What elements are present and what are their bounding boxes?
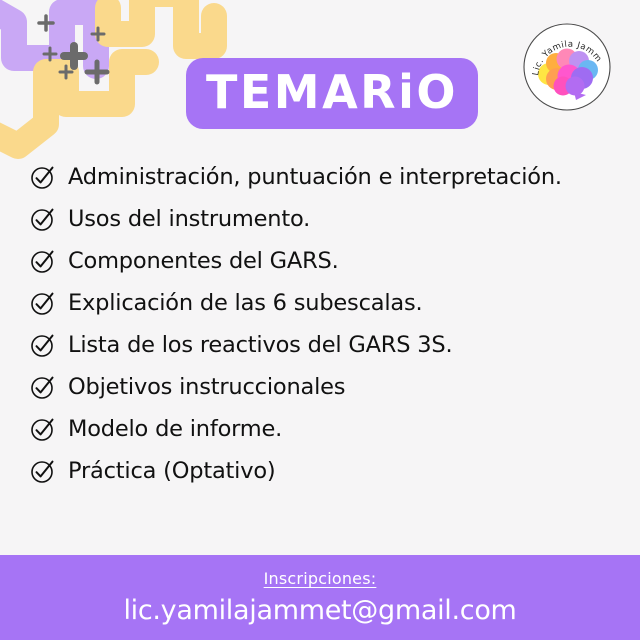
check-circle-icon (30, 458, 56, 484)
footer-email-address[interactable]: lic.yamilajammet@gmail.com (123, 595, 516, 626)
list-item-label: Modelo de informe. (68, 416, 282, 442)
list-item-label: Administración, puntuación e interpretac… (68, 164, 562, 190)
list-item: Práctica (Optativo) (30, 450, 614, 492)
page-title: TEMARiO (206, 69, 458, 118)
list-item-label: Práctica (Optativo) (68, 458, 275, 484)
brand-logo-badge: Lic. Yamila Jammet (516, 16, 618, 118)
check-circle-icon (30, 416, 56, 442)
list-item-label: Usos del instrumento. (68, 206, 310, 232)
list-item-label: Explicación de las 6 subescalas. (68, 290, 422, 316)
check-circle-icon (30, 290, 56, 316)
list-item: Objetivos instruccionales (30, 366, 614, 408)
check-circle-icon (30, 164, 56, 190)
sparkle-plus-small-4 (60, 66, 72, 78)
sparkle-plus-group (39, 16, 107, 82)
list-item: Modelo de informe. (30, 408, 614, 450)
check-circle-icon (30, 248, 56, 274)
poster-canvas: Lic. Yamila Jammet TEMARiO Administració… (0, 0, 640, 640)
sparkle-plus-large (64, 46, 84, 66)
page-title-box: TEMARiO (186, 58, 478, 129)
list-item-label: Objetivos instruccionales (68, 374, 345, 400)
yellow-zigzag-shape-top (108, 0, 214, 46)
lavender-zigzag-shape (0, 6, 96, 66)
list-item: Lista de los reactivos del GARS 3S. (30, 324, 614, 366)
check-circle-icon (30, 206, 56, 232)
sparkle-plus-small-3 (44, 48, 56, 60)
footer-band: Inscripciones: lic.yamilajammet@gmail.co… (0, 555, 640, 640)
list-item: Administración, puntuación e interpretac… (30, 156, 614, 198)
yellow-zigzag-shape-bottom (0, 62, 146, 146)
list-item: Componentes del GARS. (30, 240, 614, 282)
list-item: Usos del instrumento. (30, 198, 614, 240)
list-item: Explicación de las 6 subescalas. (30, 282, 614, 324)
list-item-label: Lista de los reactivos del GARS 3S. (68, 332, 452, 358)
check-circle-icon (30, 374, 56, 400)
topic-list: Administración, puntuación e interpretac… (30, 156, 614, 492)
check-circle-icon (30, 332, 56, 358)
sparkle-plus-small-1 (39, 16, 53, 30)
list-item-label: Componentes del GARS. (68, 248, 339, 274)
sparkle-plus-medium (87, 62, 107, 82)
footer-inscriptions-label: Inscripciones: (264, 569, 377, 588)
sparkle-plus-small-2 (92, 28, 104, 40)
